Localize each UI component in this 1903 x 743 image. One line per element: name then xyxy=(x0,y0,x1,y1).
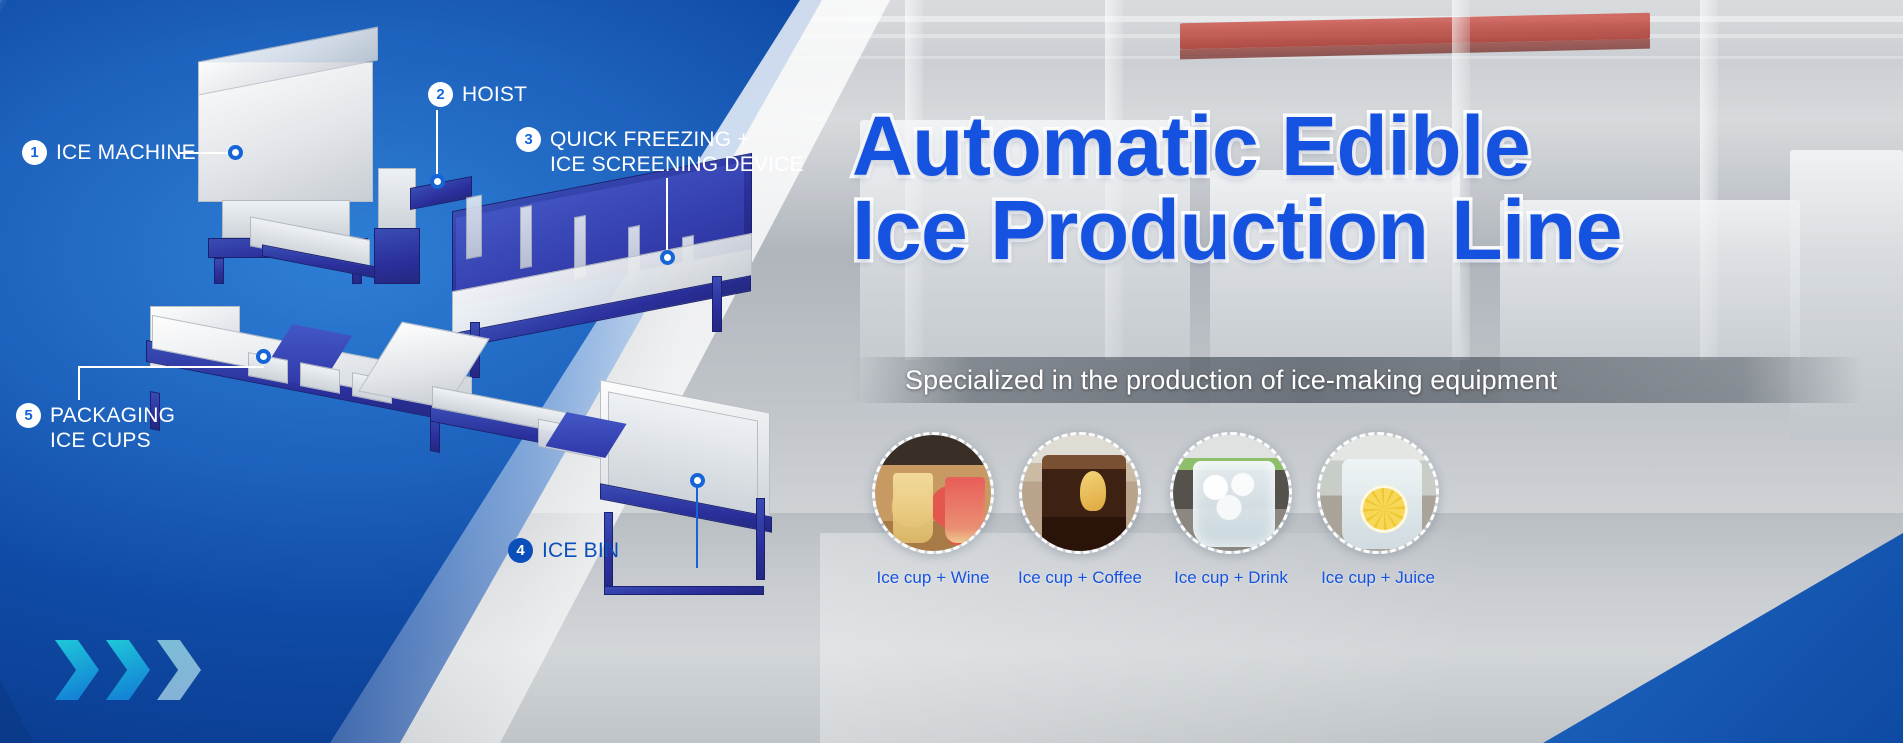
chevron-arrow-group xyxy=(55,640,201,700)
callout-ice-machine[interactable]: 1 ICE MACHINE xyxy=(22,140,196,165)
callout-marker-dot xyxy=(430,174,445,189)
callout-quick-freezing[interactable]: 3 QUICK FREEZING + ICE SCREENING DEVICE xyxy=(516,127,804,177)
callout-number-badge: 4 xyxy=(508,538,533,563)
product-photo-circle[interactable] xyxy=(1317,432,1439,554)
callout-label: ICE BIN xyxy=(542,538,619,563)
callout-marker-dot xyxy=(660,250,675,265)
product-photo-circle[interactable] xyxy=(1019,432,1141,554)
wine-cups-photo xyxy=(875,435,991,551)
callout-number-badge: 3 xyxy=(516,127,541,152)
ice-bin-cross-brace xyxy=(604,586,764,595)
product-showcase: Ice cup + Wine Ice cup + Coffee Ice cup … xyxy=(860,432,1880,602)
product-photo-circle[interactable] xyxy=(1170,432,1292,554)
product-caption: Ice cup + Wine xyxy=(853,568,1013,588)
callout-packaging-ice-cups[interactable]: 5 PACKAGING ICE CUPS xyxy=(16,403,175,453)
hoist-column xyxy=(374,228,420,284)
chevron-right-icon xyxy=(157,640,201,700)
callout-number-badge: 1 xyxy=(22,140,47,165)
callout-hoist[interactable]: 2 HOIST xyxy=(428,82,527,107)
chevron-right-icon xyxy=(55,640,99,700)
screen-divider xyxy=(466,194,482,259)
callout-leader-line xyxy=(78,366,264,368)
callout-leader-line xyxy=(436,110,438,182)
callout-marker-dot xyxy=(228,145,243,160)
screen-divider xyxy=(520,205,532,269)
callout-label: QUICK FREEZING + ICE SCREENING DEVICE xyxy=(550,127,804,177)
promotional-banner: 1 ICE MACHINE 2 HOIST 3 QUICK FREEZING +… xyxy=(0,0,1903,743)
callout-label: HOIST xyxy=(462,82,527,107)
callout-leader-line xyxy=(666,178,668,256)
ice-bin-leg xyxy=(756,498,765,580)
freezing-leg xyxy=(712,276,722,332)
headline-line-1: Automatic Edible xyxy=(852,99,1530,193)
callout-label: ICE MACHINE xyxy=(56,140,196,165)
product-caption: Ice cup + Juice xyxy=(1298,568,1458,588)
callout-number-badge: 2 xyxy=(428,82,453,107)
coffee-cup-photo xyxy=(1022,435,1138,551)
callout-marker-dot xyxy=(690,473,705,488)
callout-label: PACKAGING ICE CUPS xyxy=(50,403,175,453)
ice-machine-leg xyxy=(214,258,224,284)
callout-number-badge: 5 xyxy=(16,403,41,428)
callout-leader-elbow xyxy=(78,366,80,400)
product-caption: Ice cup + Drink xyxy=(1151,568,1311,588)
juice-glass-photo xyxy=(1320,435,1436,551)
callout-ice-bin[interactable]: 4 ICE BIN xyxy=(508,538,619,563)
subtitle: Specialized in the production of ice-mak… xyxy=(905,362,1557,398)
product-caption: Ice cup + Coffee xyxy=(1000,568,1160,588)
callout-leader-line xyxy=(696,480,698,568)
chevron-right-icon xyxy=(106,640,150,700)
product-photo-circle[interactable] xyxy=(872,432,994,554)
page-title: Automatic Edible Ice Production Line xyxy=(852,104,1862,272)
drink-glass-photo xyxy=(1173,435,1289,551)
callout-marker-dot xyxy=(256,349,271,364)
headline-line-2: Ice Production Line xyxy=(852,188,1862,272)
